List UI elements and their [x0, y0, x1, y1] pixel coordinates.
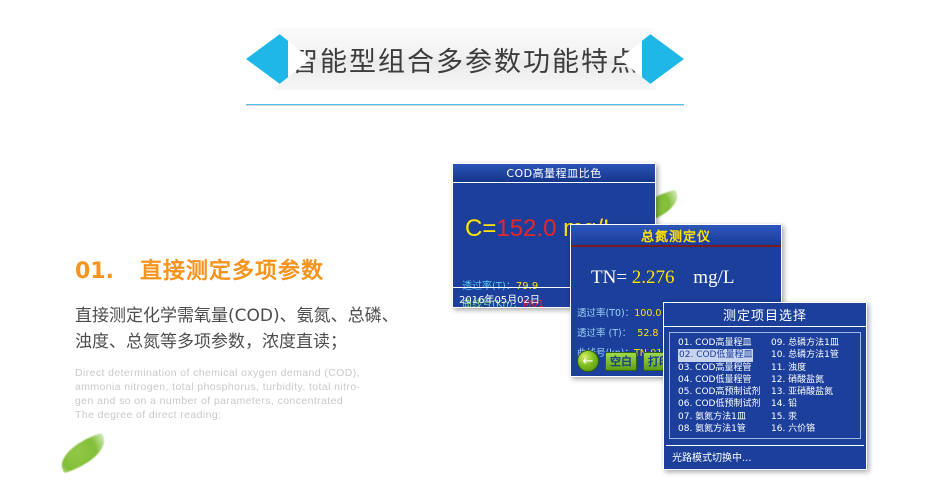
tn-button-bar: ← 空白 打印 — [577, 350, 675, 372]
measurement-item[interactable]: 16. 六价铬 — [770, 423, 860, 435]
tn-t-label: 透过率 (T)： — [577, 328, 631, 339]
tn-screen-titlebar: 总氮测定仪 — [571, 225, 781, 247]
tn-screen-title: 总氮测定仪 — [641, 226, 711, 245]
tn-reading-unit: mg/L — [693, 267, 734, 288]
feature-number: 01. — [75, 259, 114, 284]
measurement-item[interactable]: 05. COD高预制试剂 — [677, 386, 765, 398]
tn-t0-value: 100.0 — [634, 308, 661, 319]
header-divider — [246, 104, 684, 106]
page-title: 智能型组合多参数功能特点 — [291, 40, 639, 79]
feature-english-text: Direct determination of chemical oxygen … — [75, 366, 410, 422]
measurement-item[interactable]: 07. 氨氮方法1皿 — [677, 411, 765, 423]
feature-heading: 01. 直接测定多项参数 — [75, 253, 410, 285]
measurement-item[interactable]: 03. COD高量程管 — [677, 362, 765, 374]
page-header-banner: 智能型组合多参数功能特点 — [246, 28, 684, 90]
measurement-item-selected[interactable]: 02. COD低量程皿 — [678, 349, 753, 361]
status-bar: 光路模式切换中... — [666, 445, 864, 467]
measurement-item[interactable]: 10. 总磷方法1管 — [770, 349, 860, 361]
banner-plate: 智能型组合多参数功能特点 — [272, 28, 658, 90]
tn-reading-label: TN= — [591, 267, 627, 288]
measurement-item[interactable]: 15. 汞 — [770, 411, 860, 423]
measurement-item[interactable]: 04. COD低量程管 — [677, 374, 765, 386]
blank-button[interactable]: 空白 — [605, 352, 637, 371]
item-list-right-column: 09. 总磷方法1皿10. 总磷方法1管11. 浊度12. 硝酸盐氮13. 亚硝… — [765, 337, 860, 438]
feature-body-text: 直接测定化学需氧量(COD)、氨氮、总磷、浊度、总氮等多项参数，浓度直读； — [75, 303, 405, 355]
select-screen-titlebar: 测定项目选择 — [664, 303, 866, 327]
cod-reading-label: C= — [465, 215, 496, 242]
measurement-item[interactable]: 11. 浊度 — [770, 362, 860, 374]
cod-reading-value: 152.0 — [496, 215, 556, 242]
measurement-item[interactable]: 13. 亚硝酸盐氮 — [770, 386, 860, 398]
measurement-item[interactable]: 08. 氨氮方法1管 — [677, 423, 765, 435]
measurement-item[interactable]: 14. 铅 — [770, 398, 860, 410]
measurement-item[interactable]: 02. COD低量程皿 — [677, 349, 765, 361]
measurement-item-listbox[interactable]: 01. COD高量程皿02. COD低量程皿03. COD高量程管04. COD… — [669, 332, 861, 439]
measurement-item-select-screen: 测定项目选择 01. COD高量程皿02. COD低量程皿03. COD高量程管… — [663, 302, 867, 470]
tn-t0-label: 透过率(T0)： — [577, 308, 634, 319]
item-list-left-column: 01. COD高量程皿02. COD低量程皿03. COD高量程管04. COD… — [670, 337, 765, 438]
measurement-item[interactable]: 09. 总磷方法1皿 — [770, 337, 860, 349]
measurement-item[interactable]: 06. COD低预制试剂 — [677, 398, 765, 410]
tn-reading: TN= 2.276 mg/L — [591, 267, 734, 289]
measurement-item[interactable]: 01. COD高量程皿 — [677, 337, 765, 349]
select-screen-title: 测定项目选择 — [723, 305, 807, 324]
tn-transmittance-row: 透过率 (T)： 52.8 — [577, 325, 658, 339]
feature-block: 01. 直接测定多项参数 直接测定化学需氧量(COD)、氨氮、总磷、浊度、总氮等… — [75, 253, 410, 432]
feature-heading-text: 直接测定多项参数 — [140, 259, 324, 284]
leaf-decoration-icon — [55, 433, 110, 474]
tn-reading-value: 2.276 — [632, 267, 675, 288]
banner-left-arrow-icon — [246, 28, 288, 90]
banner-right-arrow-icon — [642, 28, 684, 90]
back-button[interactable]: ← — [577, 350, 599, 372]
cod-screen-title: COD高量程皿比色 — [506, 165, 601, 181]
measurement-item[interactable]: 12. 硝酸盐氮 — [770, 374, 860, 386]
tn-t-value: 52.8 — [637, 328, 658, 339]
cod-screen-titlebar: COD高量程皿比色 — [453, 164, 655, 183]
